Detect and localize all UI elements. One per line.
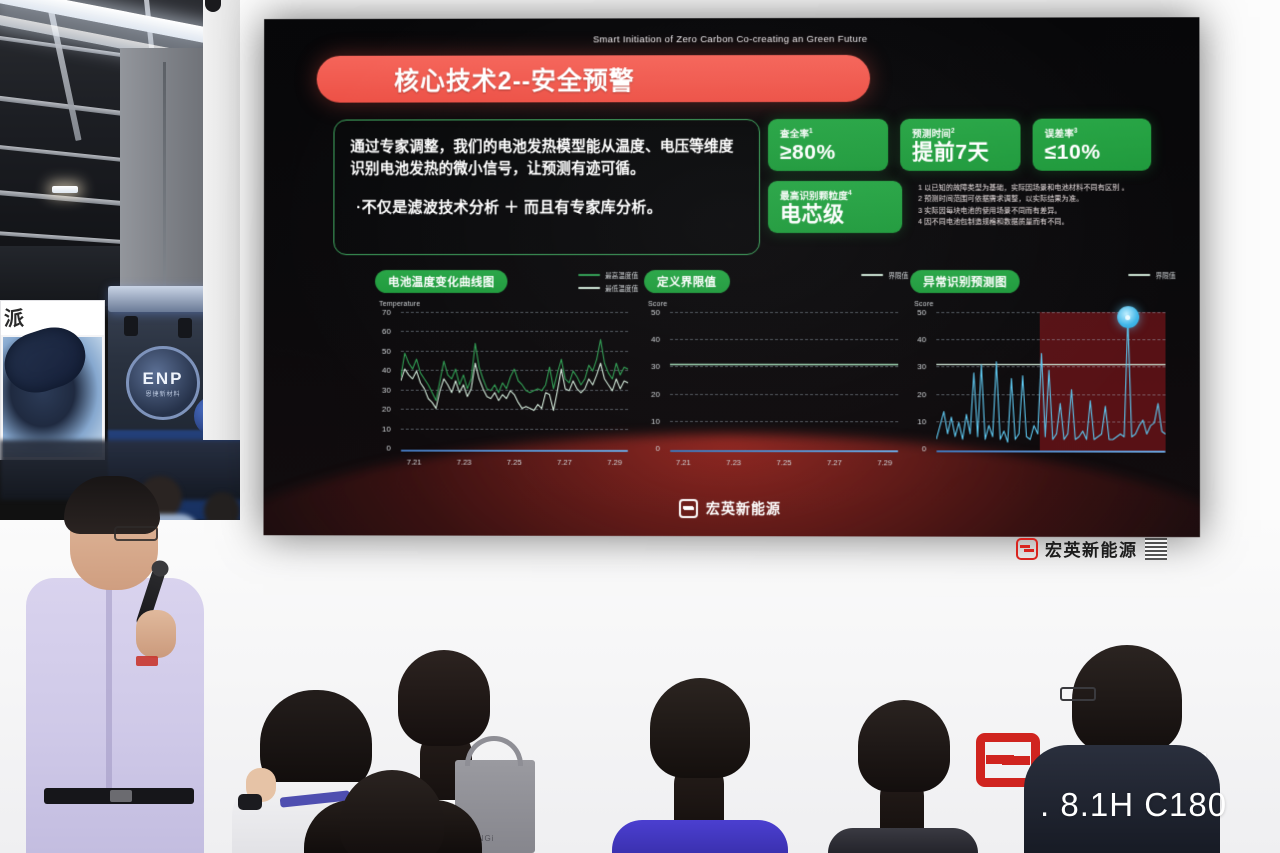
chart-y-tick: 50: [904, 308, 926, 317]
chart-x-tick: 7.27: [827, 458, 842, 467]
kpi-value: ≤10%: [1045, 141, 1142, 165]
slide-text-card: 通过专家调整，我们的电池发热模型能从温度、电压等维度识别电池发热的微小信号，让预…: [333, 119, 760, 255]
presenter-belt: [44, 788, 194, 804]
kpi-group: 查全率1 ≥80% 预测时间2 提前7天 误差率3 ≤10% 最高识别颗粒度4 …: [768, 119, 1151, 259]
kpi-card-recall: 查全率1 ≥80%: [768, 119, 888, 171]
legend-label: 最低温度值: [605, 283, 638, 293]
legend-item: 界限值: [1128, 270, 1175, 280]
chart-title: 异常识别预测图: [910, 270, 1020, 293]
chart-x-tick: 7.21: [407, 458, 422, 467]
kpi-label: 误差率3: [1045, 126, 1142, 140]
chart-y-tick: 60: [369, 327, 391, 336]
ceiling-truss: [44, 0, 81, 141]
presenter-shirt: [26, 578, 204, 853]
slide-footer-logo: 宏英新能源: [264, 497, 1200, 519]
presenter-shirt-placket: [106, 582, 112, 792]
chart-y-tick: 0: [904, 444, 926, 453]
chart-x-tick: 7.25: [777, 458, 792, 467]
chart-x-axis: [670, 450, 898, 452]
presenter-hand: [136, 610, 176, 658]
chart-y-tick: 50: [638, 307, 660, 316]
kpi-value: 电芯级: [780, 203, 892, 227]
chart-series-canvas: [401, 312, 628, 450]
footnote-item: 4 因不同电池包制造规格和数据质量而有不同。: [918, 217, 1155, 229]
chart-y-tick: 30: [638, 362, 660, 371]
chart-x-tick: 7.29: [607, 458, 622, 467]
booth-spotlight: [178, 318, 192, 338]
chart-y-tick: 10: [904, 417, 926, 426]
qr-code-icon: [1145, 538, 1167, 560]
chart-y-tick: 40: [369, 366, 391, 375]
chart-y-tick: 40: [638, 335, 660, 344]
footnote-item: 2 预测时间范围可依据需求调整，以实际结果为准。: [918, 194, 1155, 206]
legend-item: 最低温度值: [578, 283, 638, 293]
hall-location-code: . 8.1H C180: [1040, 786, 1227, 824]
chart-y-tick: 30: [904, 362, 926, 371]
chart-x-ticks: 7.217.237.257.277.29: [401, 458, 628, 467]
chart-y-tick: 20: [369, 404, 391, 413]
chart-x-axis: [936, 450, 1165, 452]
kpi-label: 查全率1: [780, 126, 878, 140]
exhibition-photo-scene: ENP 恩捷新材料 派 Smart Initiation of Zero Car…: [0, 0, 1280, 853]
enp-logo: ENP 恩捷新材料: [126, 346, 200, 420]
ceiling-spot-light: [52, 186, 78, 193]
chart-series-canvas: [670, 312, 898, 450]
kpi-value: ≥80%: [780, 141, 878, 165]
anomaly-marker-icon: [1117, 307, 1139, 329]
kpi-label: 最高识别颗粒度4: [780, 188, 892, 202]
chart-row: 电池温度变化曲线图 最高温度值 最低温度值 Temperature 706050…: [264, 268, 1200, 479]
chart-x-tick: 7.27: [557, 458, 572, 467]
legend-item: 最高温度值: [578, 270, 638, 280]
slide-title-banner: 核心技术2--安全预警: [317, 55, 870, 103]
legend-item: 界限值: [861, 270, 908, 280]
chart-x-ticks: 7.217.237.257.277.29: [670, 458, 898, 467]
chart-title: 电池温度变化曲线图: [375, 270, 507, 293]
slide-eyebrow: Smart Initiation of Zero Carbon Co-creat…: [264, 33, 1199, 46]
chart-y-tick: 0: [638, 443, 660, 452]
chart-legend: 界限值: [861, 270, 908, 280]
chart-legend: 界限值: [1128, 270, 1175, 280]
projected-slide: Smart Initiation of Zero Carbon Co-creat…: [263, 17, 1199, 537]
chart-plot-area: 50403020100 7.217.237.257.277.29: [648, 312, 898, 452]
chart-series-canvas: [936, 312, 1165, 451]
chart-legend: 最高温度值 最低温度值: [578, 270, 638, 293]
chart-x-tick: 7.23: [726, 458, 741, 467]
chart-battery-temperature: 电池温度变化曲线图 最高温度值 最低温度值 Temperature 706050…: [367, 268, 638, 473]
chart-y-tick: 70: [369, 307, 391, 316]
enp-logo-text: ENP: [143, 369, 184, 389]
chart-x-axis: [401, 450, 628, 452]
presenter-shirt-logo: [136, 656, 158, 666]
footnote-list: 1 以已知的故障类型为基础，实际因场景和电池材料不同有区别 。 2 预测时间范围…: [918, 183, 1155, 229]
chart-title: 定义界限值: [644, 270, 729, 293]
footnote-item: 1 以已知的故障类型为基础，实际因场景和电池材料不同有区别 。: [918, 183, 1155, 195]
audience-member: [612, 678, 788, 853]
chart-x-tick: 7.29: [877, 458, 892, 467]
brand-name: 宏英新能源: [1045, 536, 1138, 561]
kpi-card-granularity: 最高识别颗粒度4 电芯级: [768, 181, 902, 233]
chart-x-tick: 7.21: [676, 458, 691, 467]
legend-label: 最高温度值: [605, 270, 638, 280]
chart-x-tick: 7.23: [457, 458, 472, 467]
chart-plot-area: 50403020100: [914, 312, 1165, 453]
glasses-icon: [114, 526, 158, 541]
footnote-item: 3 实际因每块电池的使用场景不同而有差异。: [918, 206, 1155, 218]
chart-anomaly-prediction: 异常识别预测图 界限值 Score 50403020100: [902, 268, 1175, 474]
kpi-card-lead-time: 预测时间2 提前7天: [900, 119, 1020, 171]
brand-logo-icon: [679, 499, 698, 518]
kpi-label: 预测时间2: [912, 126, 1010, 140]
page-title: 核心技术2--安全预警: [394, 61, 635, 97]
kpi-value: 提前7天: [912, 141, 1010, 165]
chart-y-tick: 10: [638, 416, 660, 425]
booth-spotlight: [124, 316, 138, 336]
chart-x-tick: 7.25: [507, 458, 522, 467]
presenter: [18, 470, 228, 853]
brand-name: 宏英新能源: [706, 498, 781, 518]
kpi-card-error-rate: 误差率3 ≤10%: [1033, 119, 1152, 171]
audience-member: [300, 770, 482, 853]
body-paragraph: 通过专家调整，我们的电池发热模型能从温度、电压等维度识别电池发热的微小信号，让预…: [350, 136, 743, 181]
brand-logo-icon: [1016, 538, 1038, 560]
chart-y-tick: 10: [369, 424, 391, 433]
audience-member: [828, 700, 978, 853]
chart-y-tick: 20: [904, 389, 926, 398]
body-bullet: ·不仅是滤波技术分析 ＋ 而且有专家库分析。: [350, 196, 743, 217]
chart-defined-threshold: 定义界限值 界限值 Score 50403020100 7.217.237.25…: [636, 268, 908, 473]
wall-brand-lockup: 宏英新能源: [1016, 536, 1167, 561]
legend-label: 界限值: [1156, 270, 1176, 280]
chart-y-tick: 0: [369, 443, 391, 452]
chart-y-tick: 20: [638, 389, 660, 398]
chart-y-tick: 40: [904, 335, 926, 344]
chart-y-tick: 30: [369, 385, 391, 394]
chart-plot-area: 706050403020100 7.217.237.257.277.29: [379, 312, 628, 452]
booth-brand-mark: 派: [4, 302, 25, 331]
enp-logo-subtext: 恩捷新材料: [145, 389, 180, 398]
chart-y-tick: 50: [369, 346, 391, 355]
